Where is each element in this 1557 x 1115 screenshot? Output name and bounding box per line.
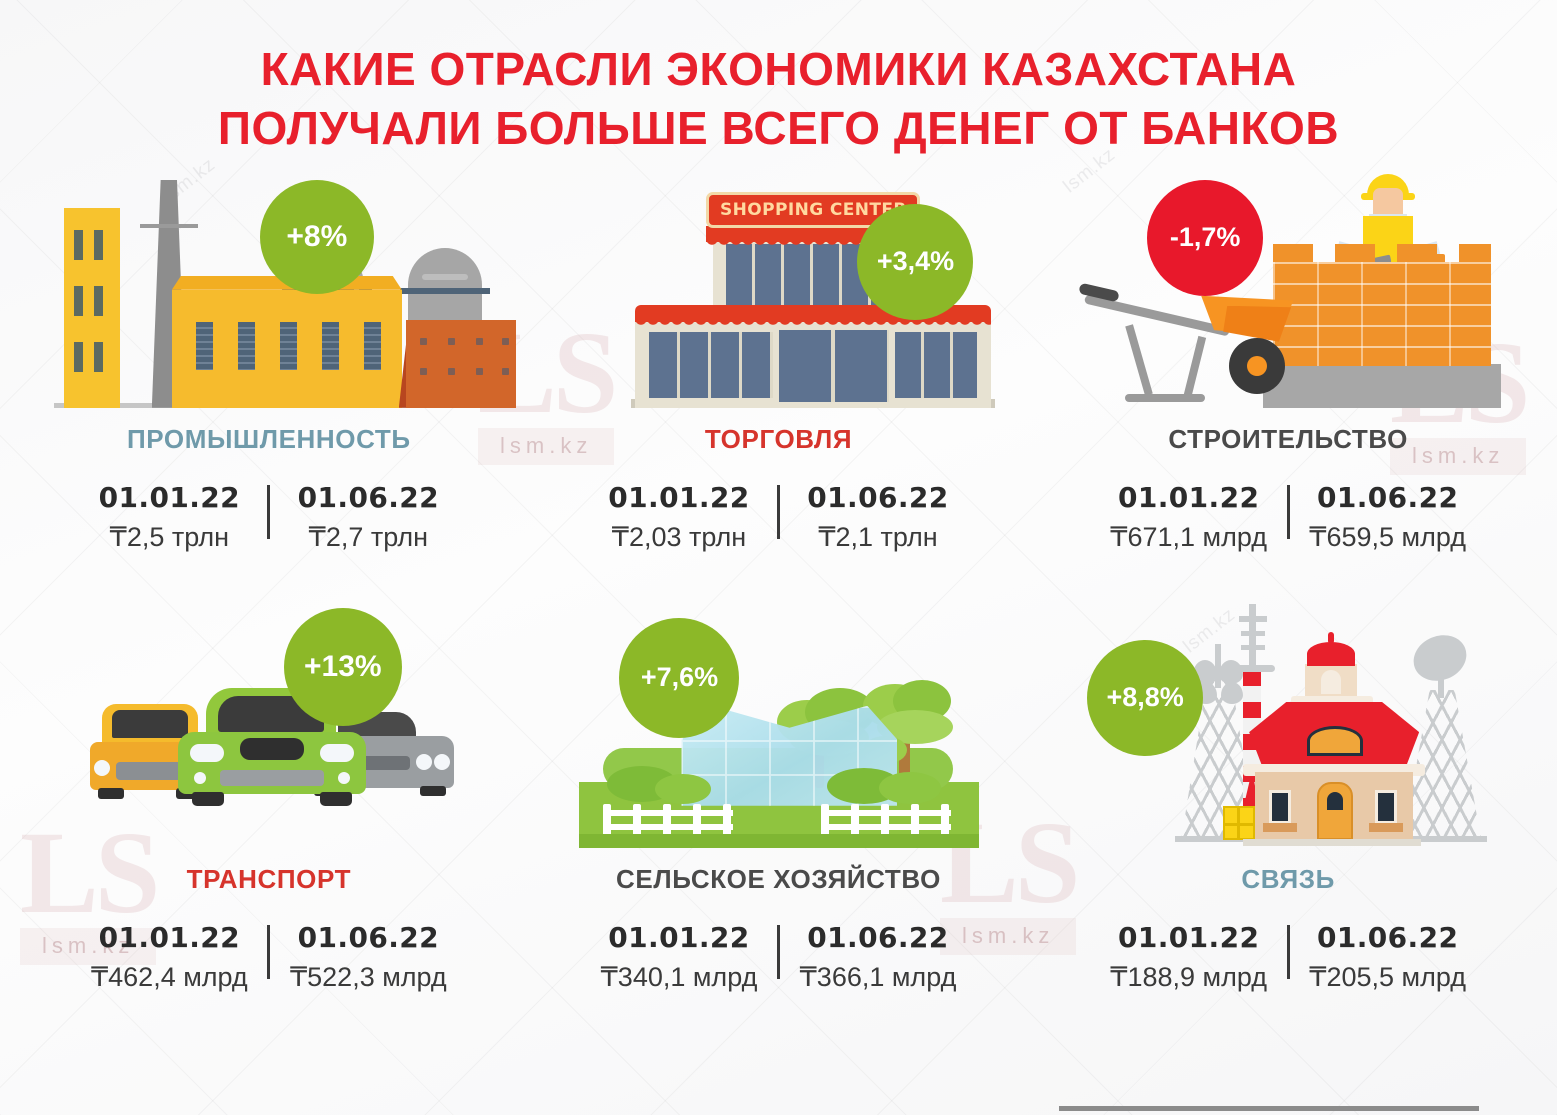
- page-title: КАКИЕ ОТРАСЛИ ЭКОНОМИКИ КАЗАХСТАНА ПОЛУЧ…: [0, 0, 1557, 158]
- badge-label: +8%: [286, 220, 347, 254]
- satellite-dish-icon: [1407, 627, 1474, 688]
- sector-label-transport: ТРАНСПОРТ: [187, 864, 351, 895]
- page-title-line-2: ПОЛУЧАЛИ БОЛЬШЕ ВСЕГО ДЕНЕГ ОТ БАНКОВ: [0, 99, 1557, 158]
- stat-date: 01.06.22: [1296, 921, 1480, 954]
- bottom-rule: [1059, 1106, 1479, 1111]
- stat-date: 01.01.22: [587, 921, 771, 954]
- sector-label-industry: ПРОМЫШЛЕННОСТЬ: [127, 424, 411, 455]
- transport-illustration: +13%: [54, 598, 484, 848]
- stat-date: 01.01.22: [1097, 481, 1281, 514]
- sector-label-communication: СВЯЗЬ: [1241, 864, 1335, 895]
- sector-label-agriculture: СЕЛЬСКОЕ ХОЗЯЙСТВО: [616, 864, 941, 895]
- badge-label: +7,6%: [641, 662, 718, 693]
- panel-agriculture: +7,6% СЕЛЬСКОЕ ХОЗЯЙСТВО 01.01.22 ₸340,1…: [524, 598, 1034, 1038]
- industry-stats: 01.01.22 ₸2,5 трлн 01.06.22 ₸2,7 трлн: [71, 481, 466, 553]
- stat-value: ₸340,1 млрд: [587, 962, 771, 993]
- stat-value: ₸2,5 трлн: [77, 522, 261, 553]
- badge-label: +3,4%: [877, 246, 954, 277]
- stat-value: ₸2,03 трлн: [587, 522, 771, 553]
- stat-start: 01.01.22 ₸671,1 млрд: [1091, 481, 1287, 553]
- transport-stats: 01.01.22 ₸462,4 млрд 01.06.22 ₸522,3 млр…: [71, 921, 466, 993]
- brick-wall-icon: [1273, 262, 1491, 366]
- stat-value: ₸2,7 трлн: [276, 522, 460, 553]
- trade-illustration: SHOPPING CENTER +3,4%: [563, 158, 993, 408]
- panel-trade: SHOPPING CENTER +3,4% ТОРГОВЛЯ 01.01.22 …: [524, 158, 1034, 598]
- stat-value: ₸462,4 млрд: [77, 962, 261, 993]
- stat-date: 01.06.22: [276, 481, 460, 514]
- panel-industry: +8% ПРОМЫШЛЕННОСТЬ 01.01.22 ₸2,5 трлн 01…: [14, 158, 524, 598]
- stat-date: 01.06.22: [786, 921, 970, 954]
- panel-communication: +8,8% СВЯЗЬ 01.01.22 ₸188,9 млрд 01.06.2…: [1033, 598, 1543, 1038]
- transport-change-badge: +13%: [284, 608, 402, 726]
- stat-value: ₸671,1 млрд: [1097, 522, 1281, 553]
- stat-end: 01.06.22 ₸659,5 млрд: [1290, 481, 1486, 553]
- sector-label-trade: ТОРГОВЛЯ: [705, 424, 852, 455]
- door-icon: [1317, 782, 1353, 840]
- badge-label: +13%: [304, 650, 382, 684]
- stat-end: 01.06.22 ₸366,1 млрд: [780, 921, 976, 993]
- stat-value: ₸188,9 млрд: [1097, 962, 1281, 993]
- communication-illustration: +8,8%: [1073, 598, 1503, 848]
- stat-start: 01.01.22 ₸188,9 млрд: [1091, 921, 1287, 993]
- stat-value: ₸205,5 млрд: [1296, 962, 1480, 993]
- agriculture-change-badge: +7,6%: [619, 618, 739, 738]
- construction-illustration: -1,7%: [1073, 158, 1503, 408]
- trade-stats: 01.01.22 ₸2,03 трлн 01.06.22 ₸2,1 трлн: [581, 481, 976, 553]
- stat-end: 01.06.22 ₸2,7 трлн: [270, 481, 466, 553]
- sector-label-construction: СТРОИТЕЛЬСТВО: [1168, 424, 1408, 455]
- fence-icon: [603, 804, 733, 838]
- factory-building-icon: [172, 290, 402, 408]
- stat-value: ₸659,5 млрд: [1296, 522, 1480, 553]
- factory-tower-icon: [64, 208, 120, 408]
- badge-label: +8,8%: [1107, 682, 1184, 713]
- construction-stats: 01.01.22 ₸671,1 млрд 01.06.22 ₸659,5 млр…: [1091, 481, 1486, 553]
- page-title-line-1: КАКИЕ ОТРАСЛИ ЭКОНОМИКИ КАЗАХСТАНА: [0, 40, 1557, 99]
- stat-end: 01.06.22 ₸522,3 млрд: [270, 921, 466, 993]
- panel-construction: -1,7% СТРОИТЕЛЬСТВО 01.01.22 ₸671,1 млрд…: [1033, 158, 1543, 598]
- agriculture-illustration: +7,6%: [563, 598, 993, 848]
- stat-value: ₸366,1 млрд: [786, 962, 970, 993]
- badge-label: -1,7%: [1170, 222, 1241, 253]
- stat-start: 01.01.22 ₸2,03 трлн: [581, 481, 777, 553]
- stat-date: 01.01.22: [587, 481, 771, 514]
- stat-start: 01.01.22 ₸462,4 млрд: [71, 921, 267, 993]
- stat-value: ₸522,3 млрд: [276, 962, 460, 993]
- stat-date: 01.01.22: [77, 481, 261, 514]
- stat-start: 01.01.22 ₸340,1 млрд: [581, 921, 777, 993]
- industry-change-badge: +8%: [260, 180, 374, 294]
- communication-stats: 01.01.22 ₸188,9 млрд 01.06.22 ₸205,5 млр…: [1091, 921, 1486, 993]
- fence-icon: [821, 804, 951, 838]
- stat-date: 01.06.22: [276, 921, 460, 954]
- sector-grid: +8% ПРОМЫШЛЕННОСТЬ 01.01.22 ₸2,5 трлн 01…: [0, 158, 1557, 1038]
- factory-brick-block-icon: [406, 320, 516, 408]
- stat-date: 01.06.22: [1296, 481, 1480, 514]
- construction-change-badge: -1,7%: [1147, 180, 1263, 296]
- agriculture-stats: 01.01.22 ₸340,1 млрд 01.06.22 ₸366,1 млр…: [581, 921, 976, 993]
- communication-change-badge: +8,8%: [1087, 640, 1203, 756]
- stat-date: 01.06.22: [786, 481, 970, 514]
- trade-change-badge: +3,4%: [857, 204, 973, 320]
- industry-illustration: +8%: [54, 158, 484, 408]
- stat-start: 01.01.22 ₸2,5 трлн: [71, 481, 267, 553]
- panel-transport: +13% ТРАНСПОРТ 01.01.22 ₸462,4 млрд 01.0…: [14, 598, 524, 1038]
- stat-value: ₸2,1 трлн: [786, 522, 970, 553]
- stat-date: 01.01.22: [77, 921, 261, 954]
- stat-end: 01.06.22 ₸205,5 млрд: [1290, 921, 1486, 993]
- stat-end: 01.06.22 ₸2,1 трлн: [780, 481, 976, 553]
- stat-date: 01.01.22: [1097, 921, 1281, 954]
